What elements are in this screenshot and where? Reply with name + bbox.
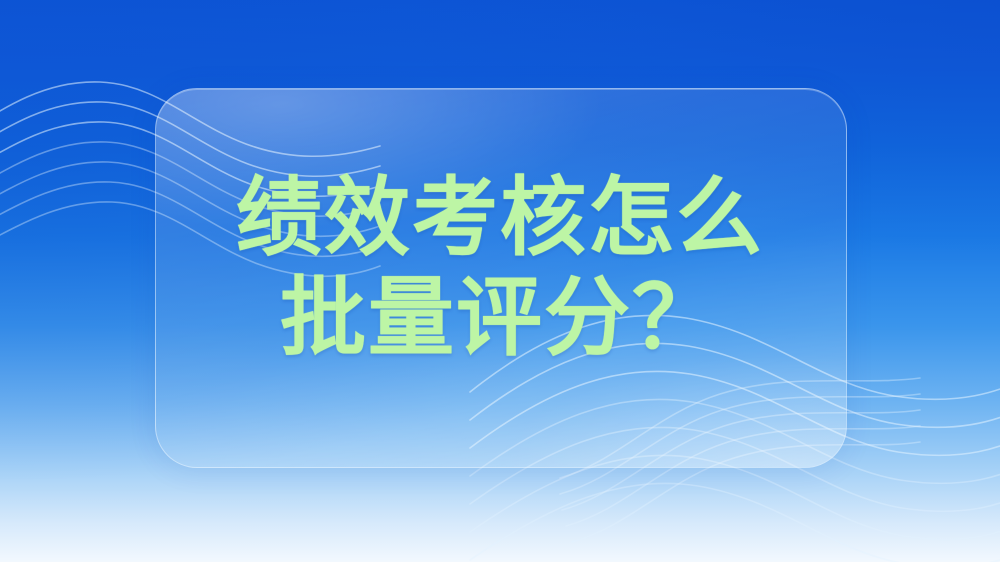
frosted-glass-panel (155, 88, 847, 468)
card-sheen-overlay (156, 89, 846, 467)
poster-canvas: 绩效考核怎么 批量评分？ (0, 0, 1000, 562)
